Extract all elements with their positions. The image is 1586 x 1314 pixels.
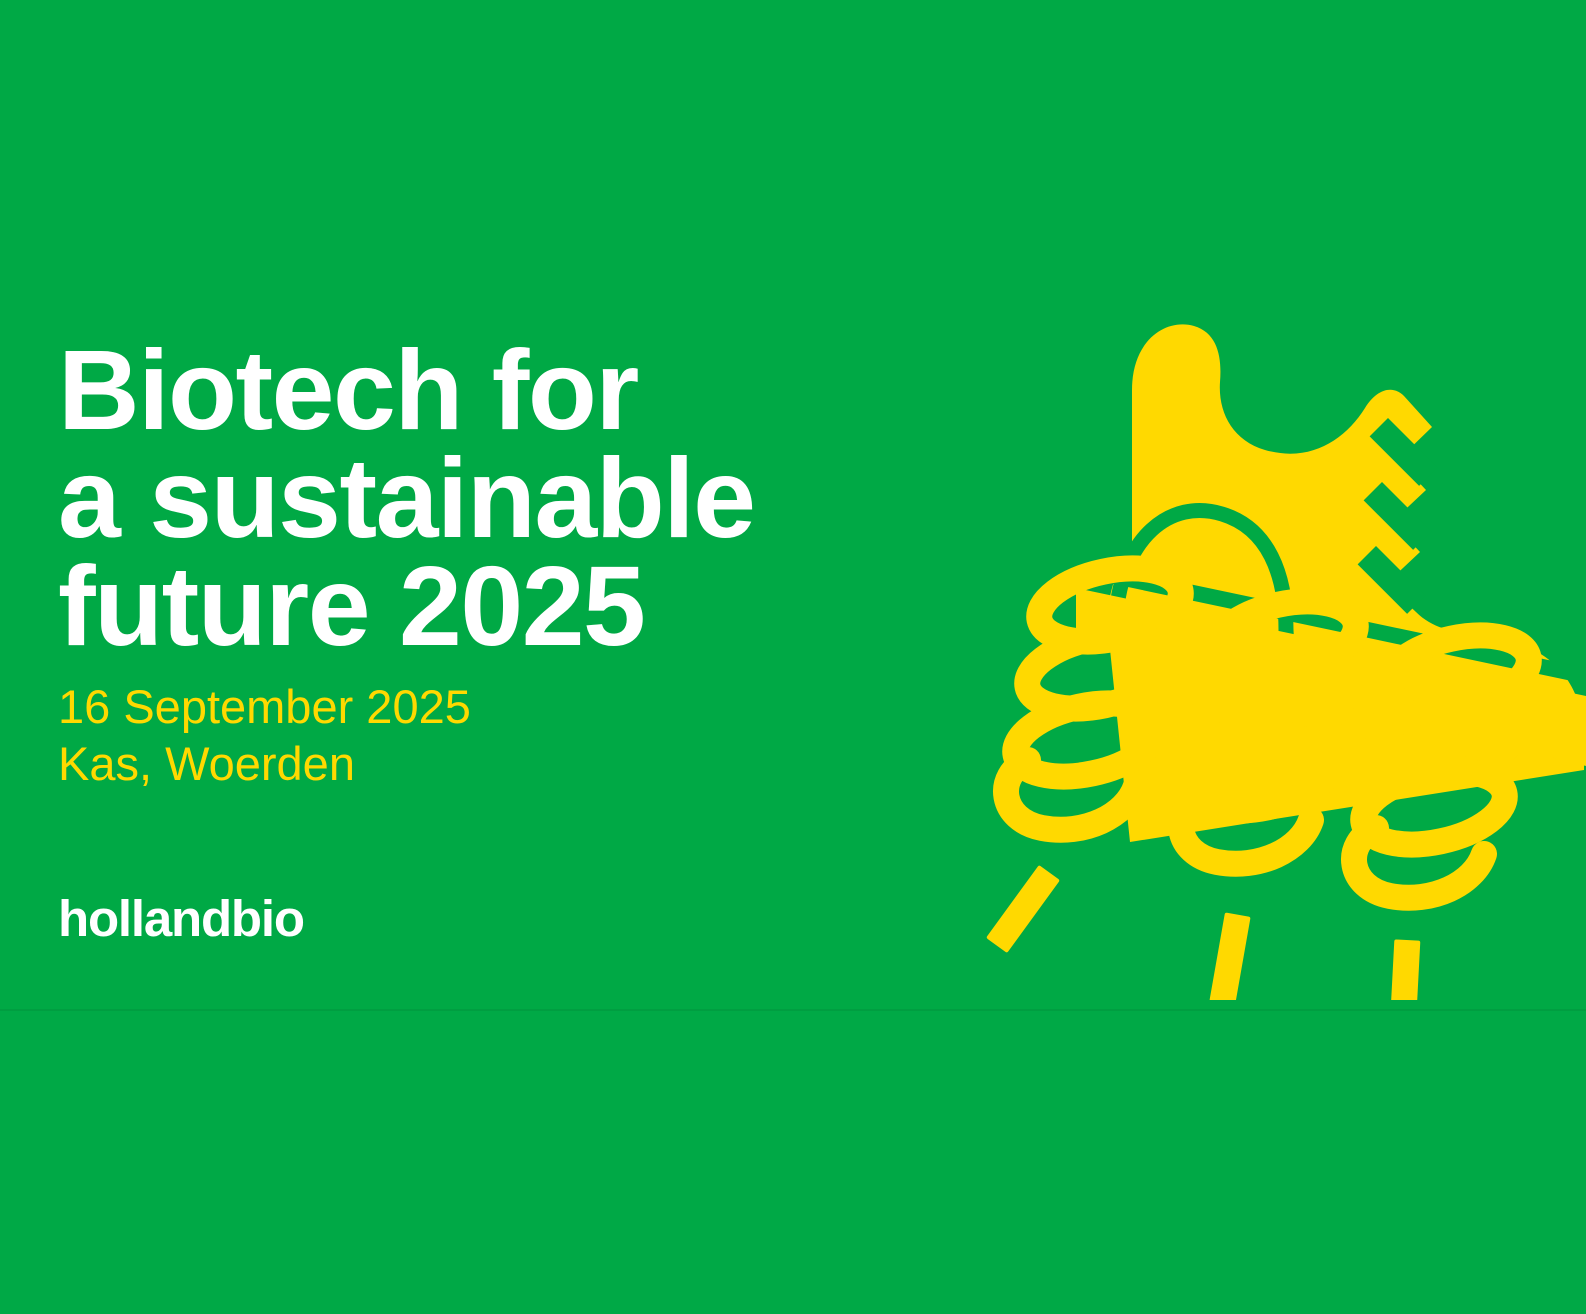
headline-block: Biotech for a sustainable future 2025 [58, 336, 1048, 660]
sneaker-artwork-svg [980, 300, 1586, 1000]
headline-line-3: future 2025 [58, 552, 1048, 660]
headline-line-2: a sustainable [58, 444, 1048, 552]
hollandbio-logo: hollandbio [58, 891, 304, 947]
event-date: 16 September 2025 [58, 678, 471, 735]
footer-band [0, 1011, 1586, 1314]
poster-canvas: Biotech for a sustainable future 2025 16… [0, 0, 1586, 1314]
page-title: Biotech for a sustainable future 2025 [58, 336, 1048, 660]
lace-tip-dash-3 [1390, 939, 1421, 1000]
hero-band: Biotech for a sustainable future 2025 16… [0, 0, 1586, 1010]
headline-line-1: Biotech for [58, 336, 1048, 444]
lace-tip-dash-2 [1209, 912, 1250, 1000]
lace-tip-dash-1 [986, 865, 1060, 953]
event-meta-block: 16 September 2025 Kas, Woerden [58, 678, 471, 792]
event-location: Kas, Woerden [58, 735, 471, 792]
sneaker-with-coiled-laces-illustration [980, 300, 1586, 1000]
